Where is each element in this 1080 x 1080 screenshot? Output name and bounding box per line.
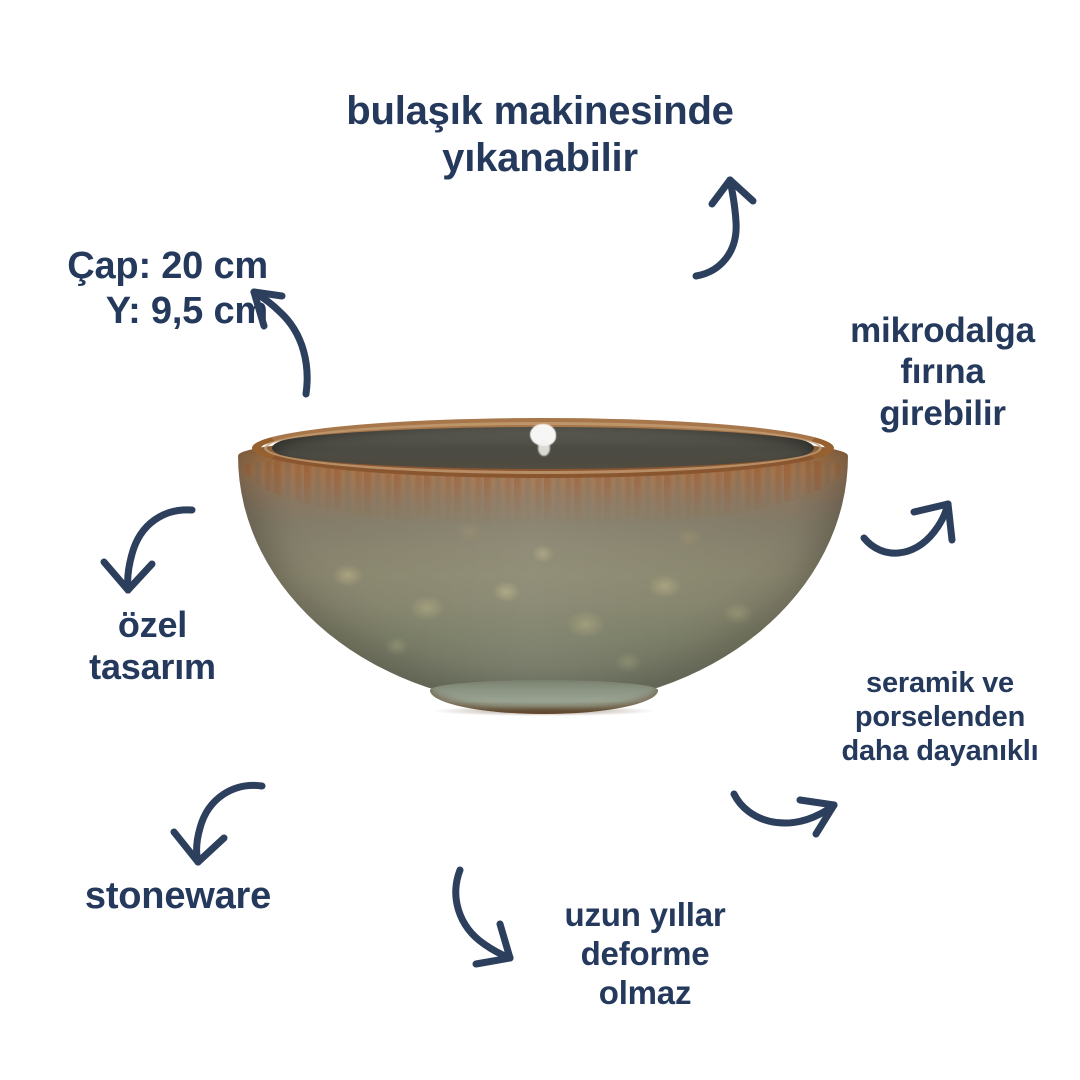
stoneware-bowl-image <box>238 418 848 718</box>
curved-arrow-up-left-icon <box>238 280 358 400</box>
callout-no-deformation: uzun yıllar deforme olmaz <box>520 896 770 1013</box>
curved-arrow-down-left-icon <box>158 768 278 873</box>
callout-microwave-safe: mikrodalga fırına girebilir <box>820 310 1065 434</box>
bowl-specular-highlight-secondary <box>538 440 550 456</box>
product-feature-infographic: bulaşık makinesinde yıkanabilir Çap: 20 … <box>0 0 1080 1080</box>
curved-arrow-down-right-icon <box>438 858 548 968</box>
callout-stoneware: stoneware <box>28 874 328 919</box>
callout-special-design: özel tasarım <box>40 604 265 689</box>
bowl-contact-shadow <box>434 706 654 716</box>
callout-more-durable: seramik ve porselenden daha dayanıklı <box>805 666 1075 769</box>
callout-dimensions: Çap: 20 cm Y: 9,5 cm <box>8 244 268 334</box>
curved-arrow-up-right-icon <box>858 478 978 588</box>
curved-arrow-down-icon <box>88 488 208 603</box>
curved-arrow-up-icon <box>690 168 800 283</box>
curved-arrow-right-icon <box>728 778 848 858</box>
